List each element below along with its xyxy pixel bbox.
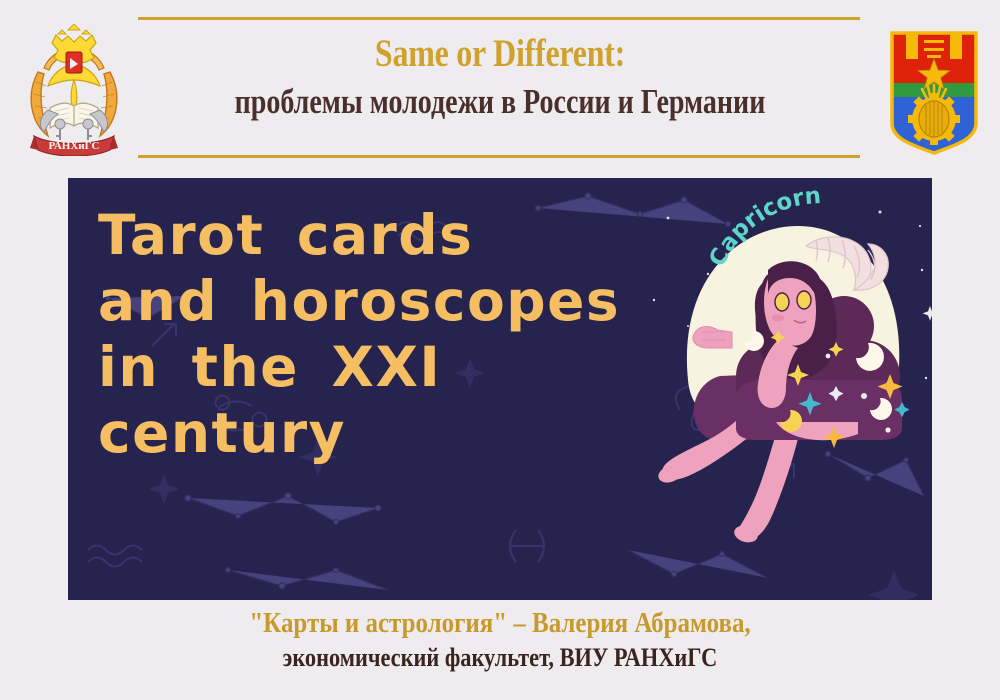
capricorn-illustration: Capricorn	[658, 190, 928, 560]
header-divider-top	[138, 17, 860, 20]
header-divider-bottom	[138, 155, 860, 158]
volgograd-coat-of-arms-icon	[884, 27, 984, 155]
page-title-ru: проблемы молодежи в России и Германии	[204, 81, 796, 123]
page-title-en: Same or Different:	[197, 32, 804, 76]
slide-caption: "Карты и астрология" – Валерия Абрамова,…	[0, 606, 1000, 674]
slide-page: РАНХиГС Same or Different: проблемы моло…	[0, 0, 1000, 700]
presentation-slide: Tarot cards and horoscopes in the XXI ce…	[68, 178, 932, 600]
caption-line-2: экономический факультет, ВИУ РАНХиГС	[70, 642, 930, 674]
caption-line-1: "Карты и астрология" – Валерия Абрамова,	[70, 606, 930, 640]
page-header: РАНХиГС Same or Different: проблемы моло…	[0, 0, 1000, 172]
svg-text:РАНХиГС: РАНХиГС	[49, 140, 100, 152]
header-title-block: Same or Different: проблемы молодежи в Р…	[130, 32, 870, 123]
ranepa-emblem-icon: РАНХиГС	[18, 24, 130, 156]
slide-title: Tarot cards and horoscopes in the XXI ce…	[98, 202, 658, 466]
